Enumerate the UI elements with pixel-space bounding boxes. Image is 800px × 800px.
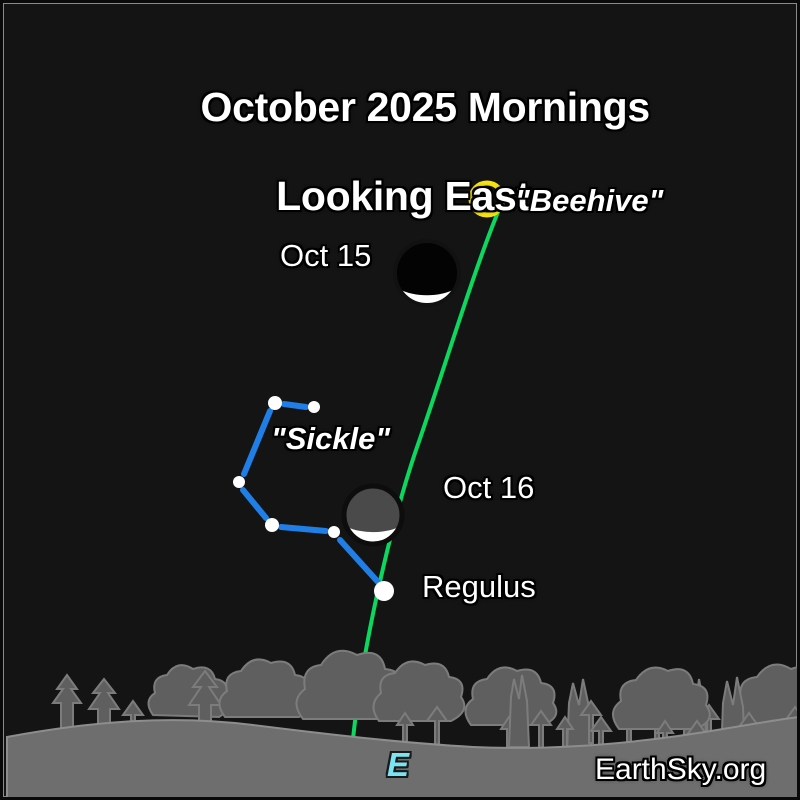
label-star-regulus: Regulus [422, 570, 536, 603]
sickle-line-1 [284, 404, 306, 407]
star-sickle-3 [233, 476, 245, 488]
label-sickle-asterism: "Sickle" [271, 422, 390, 455]
star-regulus [374, 581, 394, 601]
star-sickle-2 [308, 401, 320, 413]
sickle-line-2 [244, 411, 270, 474]
star-sickle-1 [268, 396, 282, 410]
star-sickle-4 [265, 518, 279, 532]
sickle-line-3 [243, 490, 266, 518]
label-beehive: "Beehive" [515, 184, 663, 217]
compass-direction-east: E [387, 747, 409, 783]
title-line-2: Looking East [3, 174, 800, 218]
label-moon-oct15: Oct 15 [280, 239, 371, 272]
label-moon-oct16: Oct 16 [443, 471, 534, 504]
page-title: October 2025 Mornings Looking East [3, 41, 800, 307]
watermark-earthsky: EarthSky.org [595, 754, 766, 786]
title-line-1: October 2025 Mornings [201, 84, 650, 130]
sickle-line-4 [281, 527, 326, 531]
star-sickle-5 [328, 526, 340, 538]
sky-chart: October 2025 Mornings Looking East "Beeh… [0, 0, 800, 800]
